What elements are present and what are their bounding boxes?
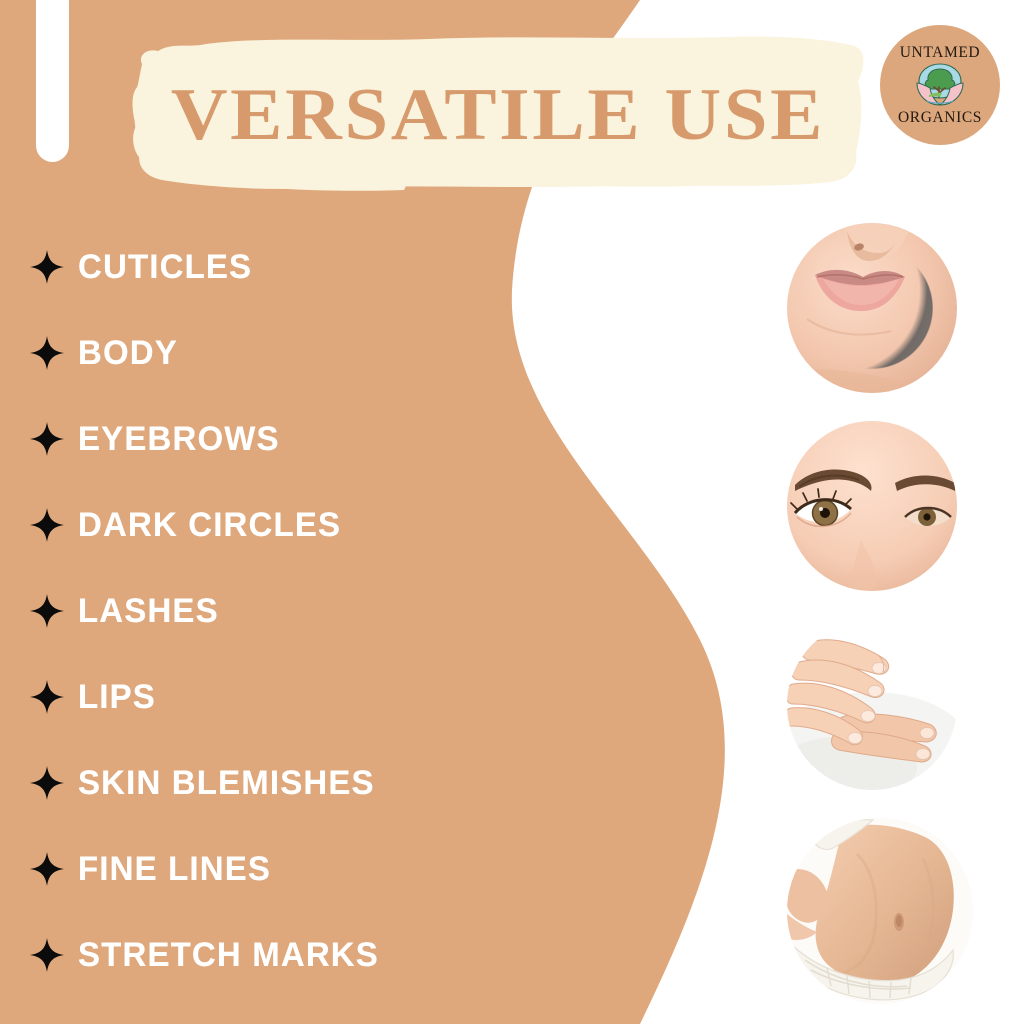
list-item: FINE LINES bbox=[30, 826, 500, 912]
list-item: BODY bbox=[30, 310, 500, 396]
photo-torso-stomach bbox=[787, 818, 973, 1004]
four-point-star-icon bbox=[30, 852, 64, 886]
photo-eyebrows-eyes bbox=[787, 421, 957, 591]
photo-hands-nails bbox=[787, 620, 957, 790]
photo-eyebrows-eyes-art bbox=[787, 421, 957, 591]
list-item-label: DARK CIRCLES bbox=[78, 508, 341, 542]
title-banner: VERSATILE USE bbox=[128, 34, 868, 196]
list-item: CUTICLES bbox=[30, 224, 500, 310]
list-item: EYEBROWS bbox=[30, 396, 500, 482]
promo-graphic-canvas: VERSATILE USE UNTAMED ORGANICS CUTICLES bbox=[0, 0, 1024, 1024]
four-point-star-icon bbox=[30, 594, 64, 628]
logo-top-text: UNTAMED bbox=[900, 45, 980, 61]
brand-logo: UNTAMED ORGANICS bbox=[880, 25, 1000, 145]
photo-torso-stomach-art bbox=[787, 818, 973, 1004]
list-item-label: SKIN BLEMISHES bbox=[78, 766, 375, 800]
list-item: STRETCH MARKS bbox=[30, 912, 500, 998]
four-point-star-icon bbox=[30, 680, 64, 714]
list-item-label: BODY bbox=[78, 336, 178, 370]
list-item: DARK CIRCLES bbox=[30, 482, 500, 568]
list-item-label: STRETCH MARKS bbox=[78, 938, 379, 972]
four-point-star-icon bbox=[30, 938, 64, 972]
four-point-star-icon bbox=[30, 508, 64, 542]
versatile-use-list: CUTICLES BODY EYEBROWS DARK CIRCLES LASH bbox=[30, 224, 500, 998]
list-item-label: LASHES bbox=[78, 594, 219, 628]
list-item-label: FINE LINES bbox=[78, 852, 271, 886]
photo-lips-closeup-art bbox=[787, 223, 957, 393]
four-point-star-icon bbox=[30, 250, 64, 284]
list-item: SKIN BLEMISHES bbox=[30, 740, 500, 826]
photo-hands-nails-art bbox=[787, 620, 957, 790]
accent-bar bbox=[36, 0, 69, 162]
page-title: VERSATILE USE bbox=[106, 34, 890, 196]
logo-bottom-text: ORGANICS bbox=[898, 110, 982, 126]
four-point-star-icon bbox=[30, 766, 64, 800]
list-item: LASHES bbox=[30, 568, 500, 654]
four-point-star-icon bbox=[30, 422, 64, 456]
list-item: LIPS bbox=[30, 654, 500, 740]
tree-in-cupped-hands-icon bbox=[909, 61, 971, 109]
list-item-label: CUTICLES bbox=[78, 250, 252, 284]
list-item-label: EYEBROWS bbox=[78, 422, 280, 456]
photo-lips-closeup bbox=[787, 223, 957, 393]
four-point-star-icon bbox=[30, 336, 64, 370]
list-item-label: LIPS bbox=[78, 680, 156, 714]
